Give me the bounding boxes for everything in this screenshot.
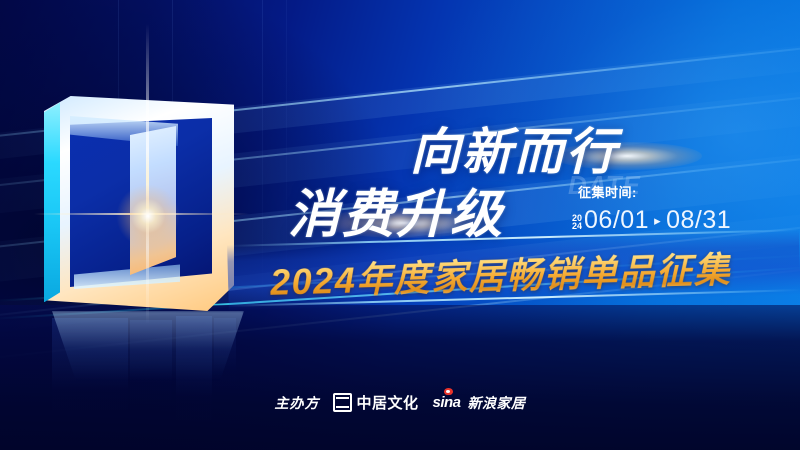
sina-eye-icon xyxy=(444,388,453,395)
sponsor-zhongju: 中居文化 xyxy=(333,392,418,413)
sponsor-zhongju-name: 中居文化 xyxy=(356,392,418,413)
footer-sponsors: 主办方 中居文化 sina 新浪家居 xyxy=(0,392,800,413)
date-end: 08/31 xyxy=(666,206,731,234)
date-arrow-icon: ▸ xyxy=(649,213,666,228)
banner-content: 向新而行 消费升级 DATE 征集时间: 20 24 06/01▸08/31 2… xyxy=(0,0,800,450)
headline-secondary: 消费升级 xyxy=(288,172,504,247)
date-year-stack: 20 24 xyxy=(572,211,582,230)
date-label: 征集时间: xyxy=(578,182,731,201)
sina-wordmark: sina xyxy=(433,394,461,411)
date-start: 06/01 xyxy=(584,206,649,234)
date-block: DATE 征集时间: 20 24 06/01▸08/31 xyxy=(572,182,731,235)
zhongju-logo-icon xyxy=(333,393,352,412)
sina-logo: sina xyxy=(433,394,461,411)
sponsor-sina: sina 新浪家居 xyxy=(433,393,526,413)
promo-banner: 向新而行 消费升级 DATE 征集时间: 20 24 06/01▸08/31 2… xyxy=(0,0,800,450)
sponsor-sina-name: 新浪家居 xyxy=(468,393,526,413)
date-year-bottom: 24 xyxy=(572,222,582,230)
organizer-label: 主办方 xyxy=(274,393,319,413)
